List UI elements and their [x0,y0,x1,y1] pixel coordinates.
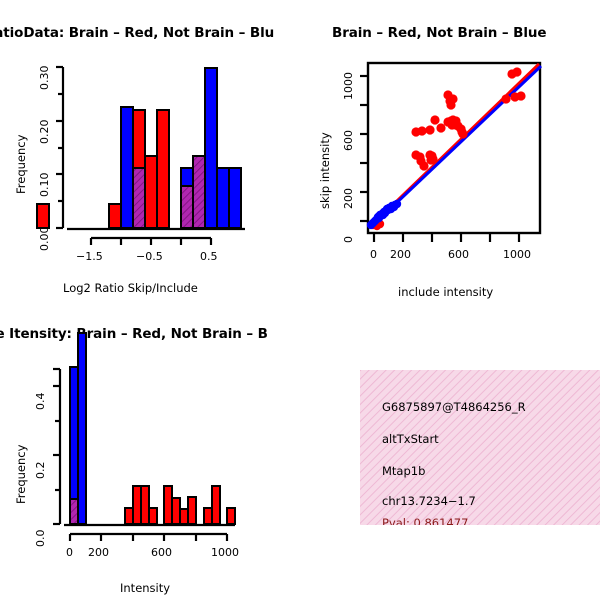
panel-gene-intensity-histogram: ne Itensity: Brain – Red, Not Brain – B … [0,300,300,600]
intensity-scatter-ytick-0: 0 [342,238,349,257]
gene-intensity-ytick-00: 0.0 [34,542,52,561]
log2-ratio-ytick-000: 0.00 [38,246,63,265]
intensity-scatter-ytick-600: 600 [342,146,363,165]
panel-intensity-scatter: Brain – Red, Not Brain – Blue skip inten… [300,0,600,300]
log2-ratio-xtick-neg15: −1.5 [76,250,103,263]
gene-intensity-bars [70,333,235,524]
intensity-scatter-xtick-200: 200 [390,248,411,261]
annotation-line-locus: chr13.7234−1.7 [382,494,476,508]
gene-intensity-y-axis [53,369,60,524]
log2-ratio-xtick-neg05: −0.5 [136,250,163,263]
log2-ratio-ytick-010: 0.10 [38,192,63,211]
intensity-scatter-xlabel: include intensity [398,285,493,299]
log2-ratio-xtick-05: 0.5 [200,250,218,263]
log2-ratio-ytick-020: 0.20 [38,139,63,158]
intensity-scatter-ytick-1000: 1000 [342,95,370,114]
gene-intensity-ytick-02: 0.2 [34,474,52,493]
gene-intensity-xtick-0: 0 [66,546,73,559]
log2-ratio-x-axis [67,229,245,245]
intensity-scatter-xtick-0: 0 [370,248,377,261]
intensity-scatter-xtick-600: 600 [448,248,469,261]
intensity-scatter-xtick-1000: 1000 [503,248,531,261]
gene-intensity-xtick-200: 200 [88,546,109,559]
log2-ratio-xlabel: Log2 Ratio Skip/Include [63,281,198,295]
gene-intensity-xtick-600: 600 [151,546,172,559]
gene-intensity-x-axis [64,525,235,541]
log2-ratio-bars [37,68,241,228]
intensity-scatter-x-ticks [374,233,519,242]
gene-intensity-ytick-04: 0.4 [34,405,52,424]
annotation-line-pval: Pval: 0.861477 [382,516,468,525]
annotation-line-gene: Mtap1b [382,464,425,478]
annotation-line-id: G6875897@T4864256_R [382,400,526,414]
log2-ratio-ytick-030: 0.30 [38,85,63,104]
annotation-line-event-type: altTxStart [382,432,439,446]
panel-log2-ratio-histogram: RatioData: Brain – Red, Not Brain – Blu … [0,0,300,300]
annotation-panel: G6875897@T4864256_R altTxStart Mtap1b ch… [360,370,600,525]
gene-intensity-xlabel: Intensity [120,581,170,595]
gene-intensity-xtick-1000: 1000 [211,546,239,559]
intensity-scatter-ytick-200: 200 [342,204,363,223]
